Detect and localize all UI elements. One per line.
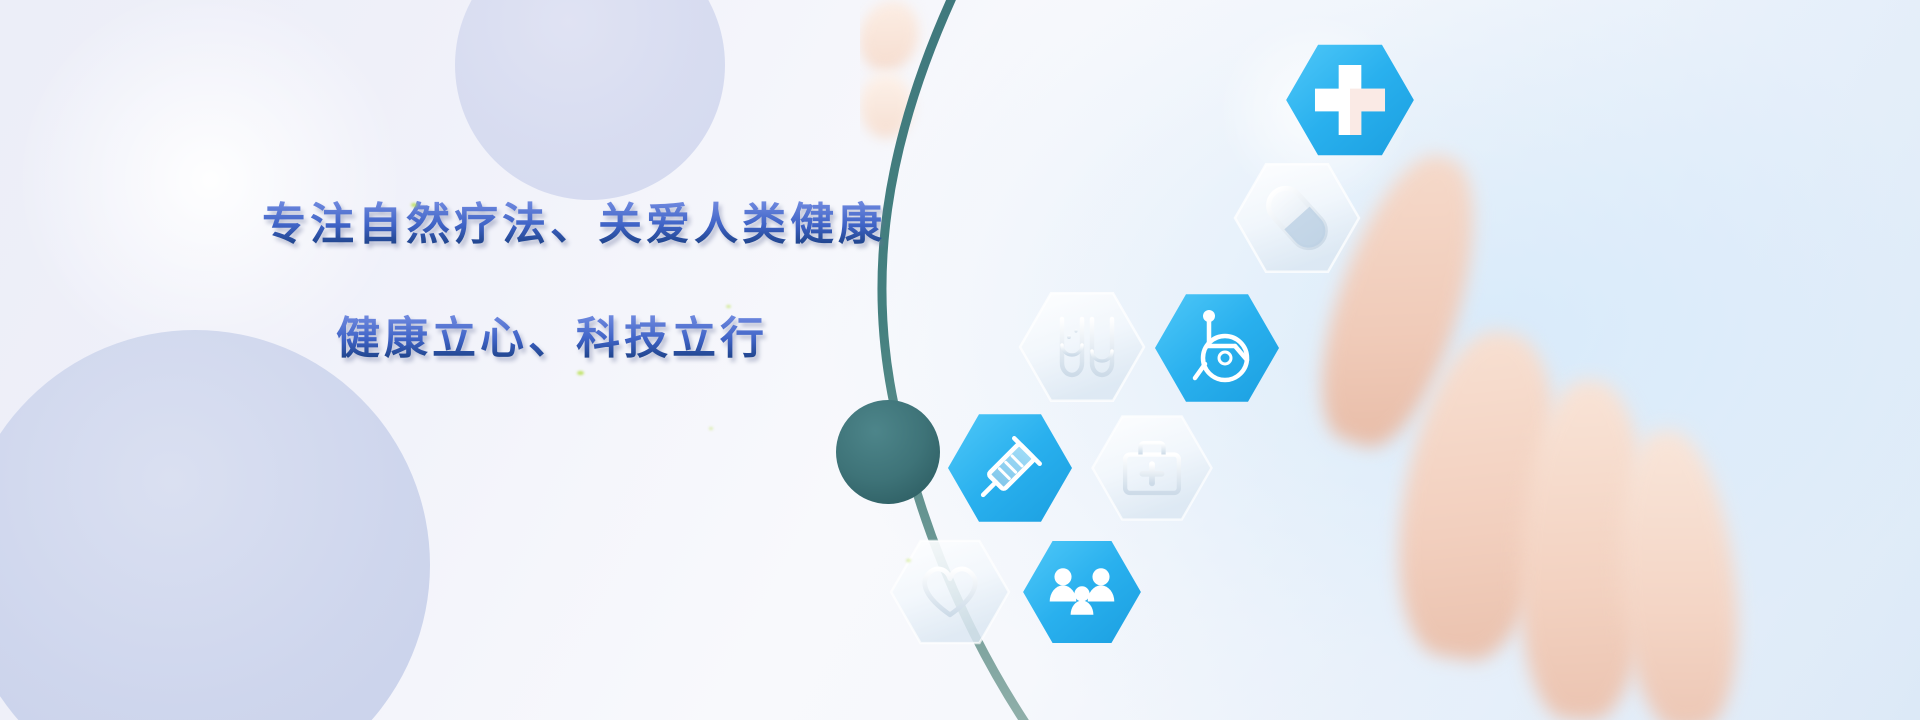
hexagon-test-tubes [1020, 293, 1144, 400]
hexagon-first-aid-kit [1092, 416, 1211, 519]
health-banner: 专注自然疗法、关爱人类健康 健康立心、科技立行 [0, 0, 1920, 720]
sparkle-dot [709, 427, 713, 430]
hexagon-heart [891, 541, 1009, 643]
page-title: 专注自然疗法、关爱人类健康 [262, 188, 886, 252]
sparkle-dot [577, 371, 584, 375]
sparkle-dot [411, 203, 417, 207]
page-subtitle: 健康立心、科技立行 [336, 302, 768, 366]
banner-copy: 专注自然疗法、关爱人类健康 健康立心、科技立行 [0, 0, 860, 720]
hexagon-wheelchair [1155, 294, 1279, 401]
hexagon-family [1023, 541, 1141, 643]
hexagon-syringe [948, 414, 1072, 521]
sparkle-dot [906, 559, 911, 562]
sparkle-dot [726, 305, 731, 308]
hexagon-icon-cluster [860, 0, 1920, 720]
